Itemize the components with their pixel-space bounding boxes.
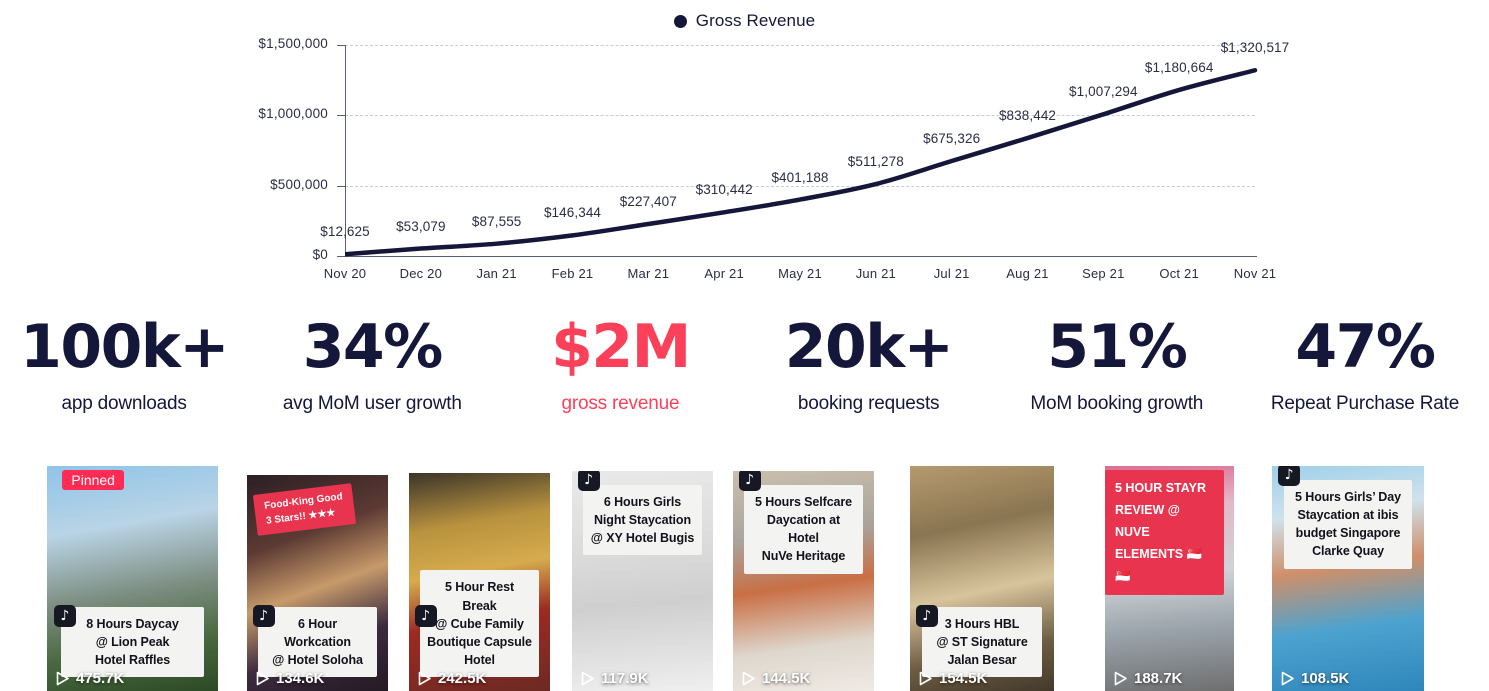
kpi-card: 100k+app downloads <box>0 316 248 436</box>
caption-line: @ ST Signature <box>928 633 1037 651</box>
view-count-value: 108.5K <box>1301 670 1349 687</box>
x-axis-tick-label: Dec 20 <box>379 266 463 281</box>
play-icon <box>580 671 595 686</box>
view-count-value: 117.9K <box>601 670 649 687</box>
sticker-line: ELEMENTS 🇸🇬🇸🇬 <box>1115 544 1214 588</box>
kpi-card: $2Mgross revenue <box>496 316 744 436</box>
view-count-value: 134.6K <box>276 670 324 687</box>
x-axis-tick-label: Mar 21 <box>606 266 690 281</box>
view-count-value: 188.7K <box>1134 670 1182 687</box>
caption-line: Hotel <box>426 651 532 669</box>
kpi-value: 51% <box>1047 316 1186 379</box>
kpi-label: Repeat Purchase Rate <box>1271 393 1459 415</box>
sticker-line: 5 HOUR STAYR <box>1115 478 1214 500</box>
tiktok-icon: ♪ <box>54 605 76 627</box>
legend-label: Gross Revenue <box>696 11 815 31</box>
view-count-value: 242.5K <box>438 670 486 687</box>
tiktok-icon: ♪ <box>415 605 437 627</box>
pinned-badge: Pinned <box>62 470 124 490</box>
data-point-label: $1,007,294 <box>1048 84 1158 99</box>
caption-line: @ XY Hotel Bugis <box>589 529 695 547</box>
kpi-label: avg MoM user growth <box>283 393 462 415</box>
kpi-card: 47%Repeat Purchase Rate <box>1241 316 1489 436</box>
kpi-value: $2M <box>551 316 690 379</box>
video-card[interactable]: 5 Hours Girls’ DayStaycation at ibisbudg… <box>1272 466 1424 691</box>
caption-line: @ Lion Peak <box>67 633 199 651</box>
play-icon <box>918 671 933 686</box>
video-card[interactable]: 5 HOUR STAYRREVIEW @ NUVEELEMENTS 🇸🇬🇸🇬18… <box>1105 466 1234 691</box>
play-icon <box>255 671 270 686</box>
x-axis-tick-label: Jan 21 <box>455 266 539 281</box>
y-axis-tick-label: $0 <box>158 247 328 262</box>
play-icon <box>1113 671 1128 686</box>
caption-line: 5 Hour Rest Break <box>426 578 532 614</box>
y-axis-tick-label: $500,000 <box>158 177 328 192</box>
tiktok-icon: ♪ <box>1278 466 1300 486</box>
video-caption: 5 Hour Rest Break@ Cube FamilyBoutique C… <box>420 570 538 677</box>
tiktok-icon: ♪ <box>253 605 275 627</box>
caption-line: Clarke Quay <box>1290 542 1406 560</box>
x-axis-tick-label: Sep 21 <box>1061 266 1145 281</box>
analytics-summary-page: Gross Revenue $0$500,000$1,000,000$1,500… <box>0 0 1489 691</box>
x-axis-tick-label: Jun 21 <box>834 266 918 281</box>
caption-line: budget Singapore <box>1290 524 1406 542</box>
tiktok-icon: ♪ <box>916 605 938 627</box>
caption-line: Night Staycation <box>589 511 695 529</box>
x-axis-tick-label: Jul 21 <box>910 266 994 281</box>
video-caption: 6 Hour Workcation@ Hotel Soloha <box>258 607 376 677</box>
view-count-value: 154.5K <box>939 670 987 687</box>
video-card[interactable]: Food-King Good3 Stars!! ★★★6 Hour Workca… <box>247 475 388 691</box>
caption-line: 3 Hours HBL <box>928 615 1037 633</box>
view-count: 134.6K <box>255 670 324 687</box>
view-count: 117.9K <box>580 670 649 687</box>
play-icon <box>417 671 432 686</box>
view-count: 144.5K <box>741 670 810 687</box>
view-count-value: 475.7K <box>76 670 124 687</box>
view-count: 154.5K <box>918 670 987 687</box>
kpi-label: gross revenue <box>562 393 680 415</box>
y-axis-tick-label: $1,500,000 <box>158 36 328 51</box>
view-count: 108.5K <box>1280 670 1349 687</box>
caption-line: Jalan Besar <box>928 651 1037 669</box>
kpi-label: app downloads <box>61 393 186 415</box>
kpi-card: 20k+booking requests <box>745 316 993 436</box>
play-icon <box>741 671 756 686</box>
kpi-value: 34% <box>303 316 442 379</box>
data-point-label: $675,326 <box>897 131 1007 146</box>
video-caption: 5 Hours Girls’ DayStaycation at ibisbudg… <box>1284 480 1412 569</box>
caption-line: 5 Hours Selfcare <box>750 493 856 511</box>
video-sticker-overlay: 5 HOUR STAYRREVIEW @ NUVEELEMENTS 🇸🇬🇸🇬 <box>1105 470 1224 595</box>
sticker-line: REVIEW @ NUVE <box>1115 500 1214 544</box>
kpi-value: 100k+ <box>20 316 228 379</box>
legend-marker-icon <box>674 15 687 28</box>
kpi-value: 20k+ <box>785 316 953 379</box>
caption-line: NuVe Heritage <box>750 547 856 565</box>
x-axis-tick-label: Apr 21 <box>682 266 766 281</box>
data-point-label: $310,442 <box>669 182 779 197</box>
view-count-value: 144.5K <box>762 670 810 687</box>
caption-line: 5 Hours Girls’ Day <box>1290 488 1406 506</box>
kpi-card: 34%avg MoM user growth <box>248 316 496 436</box>
tiktok-icon: ♪ <box>578 471 600 491</box>
view-count: 188.7K <box>1113 670 1182 687</box>
caption-line: Boutique Capsule <box>426 633 532 651</box>
video-card[interactable]: 3 Hours HBL@ ST SignatureJalan Besar♪154… <box>910 466 1054 691</box>
data-point-label: $401,188 <box>745 170 855 185</box>
kpi-value: 47% <box>1295 316 1434 379</box>
y-axis-tick-label: $1,000,000 <box>158 106 328 121</box>
view-count: 475.7K <box>55 670 124 687</box>
caption-line: 6 Hour Workcation <box>264 615 370 651</box>
x-axis-tick-label: Oct 21 <box>1137 266 1221 281</box>
chart-legend: Gross Revenue <box>0 11 1489 31</box>
x-axis-tick-label: Feb 21 <box>531 266 615 281</box>
kpi-label: booking requests <box>798 393 940 415</box>
video-card-row: Pinned8 Hours Daycay@ Lion PeakHotel Raf… <box>0 462 1489 691</box>
data-point-label: $1,180,664 <box>1124 60 1234 75</box>
video-card[interactable]: 6 Hours GirlsNight Staycation@ XY Hotel … <box>572 471 713 691</box>
tiktok-icon: ♪ <box>739 471 761 491</box>
video-card[interactable]: 5 Hour Rest Break@ Cube FamilyBoutique C… <box>409 473 550 691</box>
video-caption: 6 Hours GirlsNight Staycation@ XY Hotel … <box>583 485 701 555</box>
kpi-label: MoM booking growth <box>1030 393 1203 415</box>
data-point-label: $1,320,517 <box>1200 40 1310 55</box>
x-axis-tick-label: Nov 20 <box>303 266 387 281</box>
view-count: 242.5K <box>417 670 486 687</box>
caption-line: Staycation at ibis <box>1290 506 1406 524</box>
data-point-label: $838,442 <box>973 108 1083 123</box>
video-caption: 3 Hours HBL@ ST SignatureJalan Besar <box>922 607 1043 677</box>
kpi-card: 51%MoM booking growth <box>993 316 1241 436</box>
play-icon <box>1280 671 1295 686</box>
caption-line: @ Hotel Soloha <box>264 651 370 669</box>
caption-line: 6 Hours Girls <box>589 493 695 511</box>
caption-line: Daycation at Hotel <box>750 511 856 547</box>
x-axis-tick-label: Aug 21 <box>986 266 1070 281</box>
video-caption: 5 Hours SelfcareDaycation at HotelNuVe H… <box>744 485 862 574</box>
data-point-label: $511,278 <box>821 154 931 169</box>
video-caption: 8 Hours Daycay@ Lion PeakHotel Raffles <box>61 607 205 677</box>
video-card[interactable]: Pinned8 Hours Daycay@ Lion PeakHotel Raf… <box>47 466 218 691</box>
x-axis-tick-label: Nov 21 <box>1213 266 1297 281</box>
video-card[interactable]: 5 Hours SelfcareDaycation at HotelNuVe H… <box>733 471 874 691</box>
play-icon <box>55 671 70 686</box>
x-axis-tick-label: May 21 <box>758 266 842 281</box>
caption-line: 8 Hours Daycay <box>67 615 199 633</box>
kpi-row: 100k+app downloads34%avg MoM user growth… <box>0 316 1489 436</box>
gross-revenue-chart: Gross Revenue $0$500,000$1,000,000$1,500… <box>0 0 1489 300</box>
caption-line: Hotel Raffles <box>67 651 199 669</box>
caption-line: @ Cube Family <box>426 615 532 633</box>
